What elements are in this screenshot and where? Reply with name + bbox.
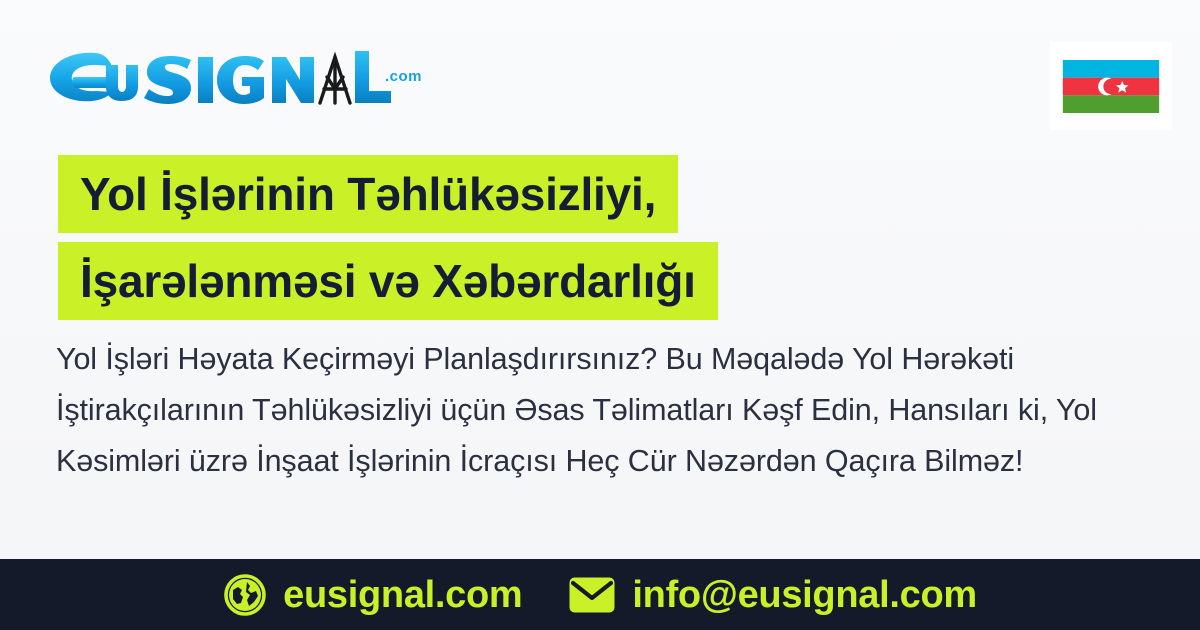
website-label: eusignal.com	[283, 576, 522, 614]
azerbaijan-flag-icon	[1062, 60, 1160, 113]
envelope-icon	[568, 576, 616, 614]
email-contact[interactable]: info@eusignal.com	[568, 576, 976, 614]
eusignal-logo-icon	[48, 47, 353, 105]
email-label: info@eusignal.com	[632, 576, 976, 614]
headline-line-2: İşarələnməsi və Xəbərdarlığı	[58, 242, 718, 320]
website-contact[interactable]: eusignal.com	[223, 573, 522, 617]
body-paragraph: Yol İşləri Həyata Keçirməyi Planlaşdırır…	[56, 334, 1150, 487]
globe-icon	[223, 573, 267, 617]
logo-dotcom-text: .com	[385, 68, 422, 85]
promo-banner: .com Yol İşlərinin Təhlükəsizliyi, İşarə…	[0, 0, 1200, 630]
banner-header: .com	[0, 0, 1200, 150]
contact-footer: eusignal.com info@eusignal.com	[0, 559, 1200, 630]
flag-container	[1050, 42, 1172, 130]
headline-block: Yol İşlərinin Təhlükəsizliyi, İşarələnmə…	[58, 155, 1148, 320]
eusignal-logo[interactable]: .com	[48, 47, 422, 105]
tower-a-icon	[320, 57, 350, 103]
headline-line-1: Yol İşlərinin Təhlükəsizliyi,	[58, 155, 678, 233]
